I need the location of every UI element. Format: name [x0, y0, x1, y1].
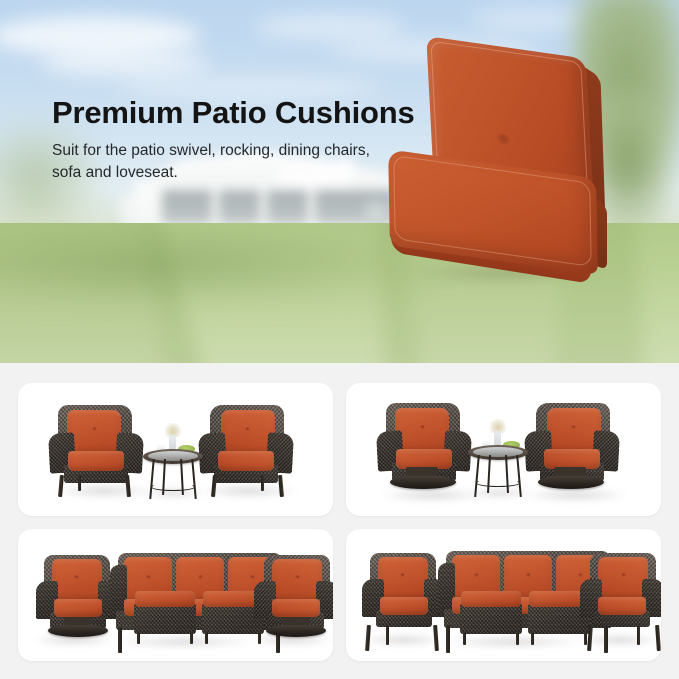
wicker-dining-chair	[48, 405, 144, 497]
swivel-base	[48, 624, 108, 637]
ottoman	[134, 591, 196, 641]
glass-top-bistro-table	[143, 431, 203, 499]
wicker-lounge-chair	[580, 553, 661, 641]
hero-copy-block: Premium Patio Cushions Suit for the pati…	[52, 96, 452, 184]
cloud-icon	[255, 14, 405, 40]
swivel-base	[390, 475, 456, 489]
product-card-bistro-swivel[interactable]	[346, 383, 661, 516]
product-card-bistro-dining[interactable]	[18, 383, 333, 516]
ottoman	[460, 591, 522, 641]
swivel-base	[538, 475, 604, 489]
product-card-sofa-fixed[interactable]	[346, 529, 661, 662]
cloud-icon	[470, 8, 590, 30]
glass-top-bistro-table	[468, 427, 528, 495]
wicker-dining-chair	[198, 405, 294, 497]
hero-banner: Premium Patio Cushions Suit for the pati…	[0, 0, 679, 363]
cloud-icon	[40, 48, 210, 78]
swivel-base	[266, 624, 326, 637]
product-image-page: Premium Patio Cushions Suit for the pati…	[0, 0, 679, 679]
wicker-lounge-chair	[362, 553, 446, 641]
hero-subtitle: Suit for the patio swivel, rocking, dini…	[52, 140, 382, 184]
hero-title: Premium Patio Cushions	[52, 96, 452, 131]
product-card-sofa-swivel[interactable]	[18, 529, 333, 662]
product-card-grid	[0, 363, 679, 679]
